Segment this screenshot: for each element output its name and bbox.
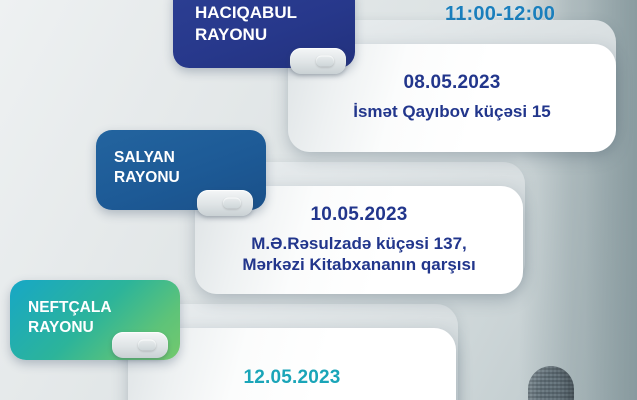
region-tag-salyan-line2: RAYONU	[114, 168, 266, 188]
event-date-1: 08.05.2023	[403, 73, 500, 94]
poster-canvas: 11:00-12:00 HACIQABUL RAYONU 08.05.2023 …	[0, 0, 637, 400]
event-address-2-line1: M.Ə.Rəsulzadə küçəsi 137,	[239, 233, 479, 254]
event-address-1-line1: İsmət Qayıbov küçəsi 15	[341, 101, 563, 122]
event-date-3: 12.05.2023	[243, 368, 340, 389]
region-tag-haciqabul-line1: HACIQABUL	[195, 2, 355, 24]
region-tag-neftcala-line1: NEFTÇALA	[28, 298, 180, 318]
region-tag-neftcala-line2: RAYONU	[28, 318, 180, 338]
event-address-2-line2: Mərkəzi Kitabxananın qarşısı	[230, 254, 487, 275]
microphone-icon	[528, 366, 574, 400]
region-tag-neftcala[interactable]: NEFTÇALA RAYONU	[10, 280, 180, 360]
region-tag-haciqabul-line2: RAYONU	[195, 24, 355, 46]
region-tag-salyan-line1: SALYAN	[114, 148, 266, 168]
region-tag-salyan[interactable]: SALYAN RAYONU	[96, 130, 266, 210]
region-tag-haciqabul[interactable]: HACIQABUL RAYONU	[173, 0, 355, 68]
event-date-2: 10.05.2023	[310, 205, 407, 226]
